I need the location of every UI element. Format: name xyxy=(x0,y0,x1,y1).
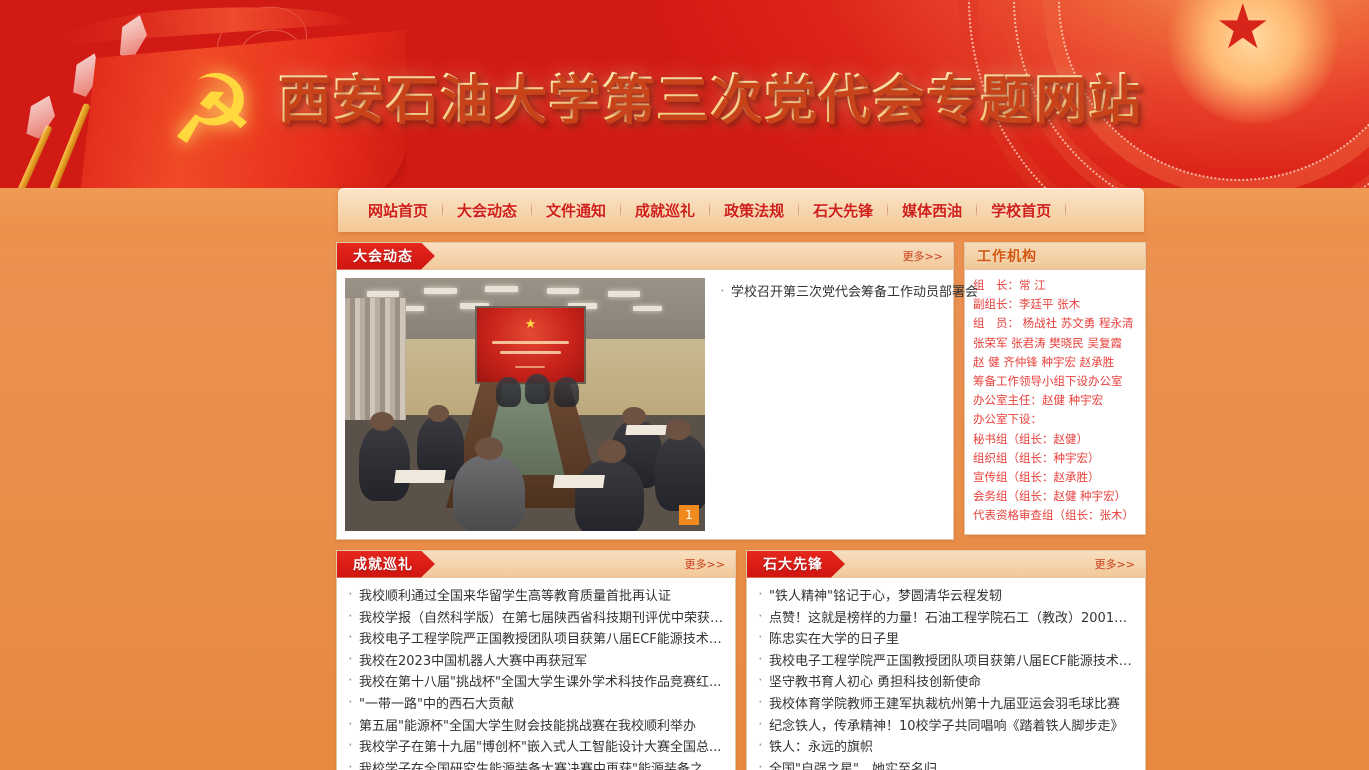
org-line: 办公室下设： xyxy=(973,410,1139,429)
org-structure-panel: 工作机构 组 长：常 江 副组长：李廷平 张木 组 员： 杨战社 苏文勇 程永清… xyxy=(964,242,1146,535)
list-item[interactable]: "一带一路"中的西石大贡献 xyxy=(345,694,727,716)
list-item[interactable]: 我校学报（自然科学版）在第七届陕西省科技期刊评优中荣获"... xyxy=(345,608,727,630)
more-link[interactable]: 更多>> xyxy=(685,556,725,572)
list-item[interactable]: 我校顺利通过全国来华留学生高等教育质量首批再认证 xyxy=(345,586,727,608)
section-title: 石大先锋 xyxy=(747,551,845,578)
list-item[interactable]: 我校电子工程学院严正国教授团队项目获第八届ECF能源技术创新... xyxy=(755,651,1137,673)
achievements-list: 我校顺利通过全国来华留学生高等教育质量首批再认证 我校学报（自然科学版）在第七届… xyxy=(337,578,735,770)
more-link[interactable]: 更多>> xyxy=(1095,556,1135,572)
site-banner: ★ ☭ 西安石油大学第三次党代会专题网站 xyxy=(0,0,1369,188)
nav-item-pioneers[interactable]: 石大先锋 xyxy=(799,200,887,221)
nav-item-media[interactable]: 媒体西油 xyxy=(888,200,976,221)
section-title: 大会动态 xyxy=(337,243,435,270)
nav-item-achievements[interactable]: 成就巡礼 xyxy=(621,200,709,221)
list-item[interactable]: 坚守教书育人初心 勇担科技创新使命 xyxy=(755,672,1137,694)
pioneers-panel: 石大先锋 更多>> "铁人精神"铭记于心，梦圆清华云程发轫 点赞！这就是榜样的力… xyxy=(746,550,1146,770)
list-item[interactable]: 陈忠实在大学的日子里 xyxy=(755,629,1137,651)
news-photo[interactable]: ★ xyxy=(345,278,705,531)
list-item[interactable]: 我校学子在第十九届"博创杯"嵌入式人工智能设计大赛全国总... xyxy=(345,737,727,759)
list-item[interactable]: 学校召开第三次党代会筹备工作动员部署会 xyxy=(717,282,978,303)
list-item[interactable]: 点赞！这就是榜样的力量！石油工程学院石工（教改）2001班梁... xyxy=(755,608,1137,630)
congress-news-body: ★ xyxy=(337,270,953,539)
org-line: 副组长：李廷平 张木 xyxy=(973,295,1139,314)
congress-news-list: 学校召开第三次党代会筹备工作动员部署会 xyxy=(717,278,982,531)
bottom-row: 成就巡礼 更多>> 我校顺利通过全国来华留学生高等教育质量首批再认证 我校学报（… xyxy=(336,550,1146,770)
org-line: 张荣军 张君涛 樊晓民 吴复霞 xyxy=(973,334,1139,353)
list-item[interactable]: "铁人精神"铭记于心，梦圆清华云程发轫 xyxy=(755,586,1137,608)
list-item[interactable]: 我校电子工程学院严正国教授团队项目获第八届ECF能源技术创新... xyxy=(345,629,727,651)
nav-separator xyxy=(1065,202,1066,218)
list-item[interactable]: 我校在2023中国机器人大赛中再获冠军 xyxy=(345,651,727,673)
org-line: 筹备工作领导小组下设办公室 xyxy=(973,372,1139,391)
pioneers-list: "铁人精神"铭记于心，梦圆清华云程发轫 点赞！这就是榜样的力量！石油工程学院石工… xyxy=(747,578,1145,770)
list-item[interactable]: 全国"自强之星"，她实至名归 xyxy=(755,759,1137,770)
org-line: 组织组（组长：种宇宏） xyxy=(973,449,1139,468)
org-line: 组 员： 杨战社 苏文勇 程永清 xyxy=(973,314,1139,333)
more-link[interactable]: 更多>> xyxy=(903,248,943,264)
org-line: 组 长：常 江 xyxy=(973,276,1139,295)
page-root: ★ ☭ 西安石油大学第三次党代会专题网站 网站首页 大会动态 文件通知 xyxy=(0,0,1369,770)
org-structure-header: 工作机构 xyxy=(965,243,1145,270)
org-structure-body: 组 长：常 江 副组长：李廷平 张木 组 员： 杨战社 苏文勇 程永清 张荣军 … xyxy=(965,270,1145,534)
org-line: 代表资格审查组（组长：张木） xyxy=(973,506,1139,525)
navbar-zone: 网站首页 大会动态 文件通知 成就巡礼 政策法规 石大先锋 媒体西油 学校首页 xyxy=(0,188,1369,242)
projection-screen: ★ xyxy=(475,306,587,384)
org-line: 宣传组（组长：赵承胜） xyxy=(973,468,1139,487)
nav-item-congress-news[interactable]: 大会动态 xyxy=(443,200,531,221)
list-item[interactable]: 我校在第十八届"挑战杯"全国大学生课外学术科技作品竞赛红... xyxy=(345,672,727,694)
org-line: 会务组（组长：赵健 种宇宏） xyxy=(973,487,1139,506)
org-line: 办公室主任：赵健 种宇宏 xyxy=(973,391,1139,410)
nav-item-home[interactable]: 网站首页 xyxy=(354,200,442,221)
main-content: 大会动态 更多>> xyxy=(336,242,1146,770)
section-title: 成就巡礼 xyxy=(337,551,435,578)
list-item[interactable]: 我校学子在全国研究生能源装备大赛决赛中再获"能源装备之星... xyxy=(345,759,727,770)
achievements-header: 成就巡礼 更多>> xyxy=(337,551,735,578)
list-item[interactable]: 我校体育学院教师王建军执裁杭州第十九届亚运会羽毛球比赛 xyxy=(755,694,1137,716)
nav-item-policies[interactable]: 政策法规 xyxy=(710,200,798,221)
nav-item-documents[interactable]: 文件通知 xyxy=(532,200,620,221)
list-item[interactable]: 铁人：永远的旗帜 xyxy=(755,737,1137,759)
nav-item-university-home[interactable]: 学校首页 xyxy=(977,200,1065,221)
slide-index-badge[interactable]: 1 xyxy=(679,505,699,525)
org-line: 赵 健 齐仲锋 种宇宏 赵承胜 xyxy=(973,353,1139,372)
list-item[interactable]: 第五届"能源杯"全国大学生财会技能挑战赛在我校顺利举办 xyxy=(345,716,727,738)
congress-news-header: 大会动态 更多>> xyxy=(337,243,953,270)
achievements-panel: 成就巡礼 更多>> 我校顺利通过全国来华留学生高等教育质量首批再认证 我校学报（… xyxy=(336,550,736,770)
site-title: 西安石油大学第三次党代会专题网站 xyxy=(0,0,1369,188)
org-line: 秘书组（组长：赵健） xyxy=(973,430,1139,449)
section-title: 工作机构 xyxy=(977,246,1037,266)
pioneers-header: 石大先锋 更多>> xyxy=(747,551,1145,578)
list-item[interactable]: 纪念铁人，传承精神！10校学子共同唱响《踏着铁人脚步走》 xyxy=(755,716,1137,738)
main-navigation: 网站首页 大会动态 文件通知 成就巡礼 政策法规 石大先锋 媒体西油 学校首页 xyxy=(338,188,1144,232)
congress-news-panel: 大会动态 更多>> xyxy=(336,242,954,540)
top-row: 大会动态 更多>> xyxy=(336,242,1146,540)
